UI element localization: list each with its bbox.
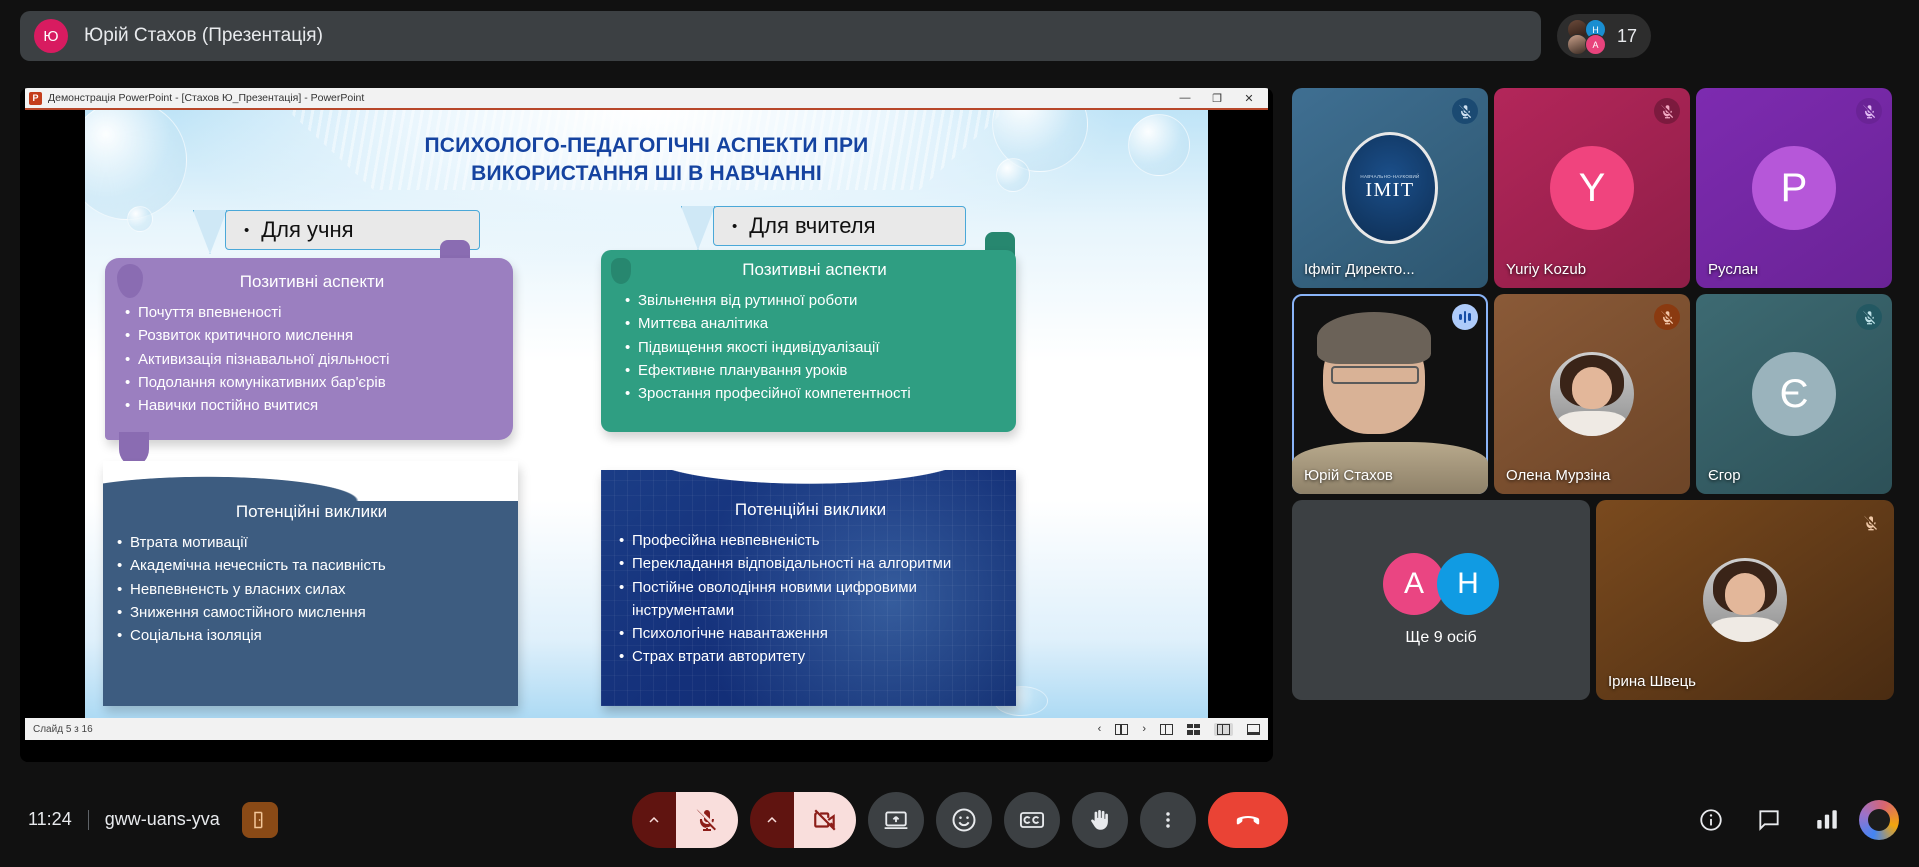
participant-tile-imit[interactable]: НАВЧАЛЬНО-НАУКОВИЙ IMIT Іфміт Директо... — [1292, 88, 1488, 288]
list-item: Ефективне планування уроків — [623, 359, 1006, 382]
divider — [88, 810, 89, 830]
panel-heading: Потенційні виклики — [617, 500, 1004, 520]
powerpoint-window: P Демонстрація PowerPoint - [Стахов Ю_Пр… — [25, 88, 1268, 762]
camera-options-chevron-up-icon[interactable] — [750, 792, 794, 848]
participant-row: НАВЧАЛЬНО-НАУКОВИЙ IMIT Іфміт Директо...… — [1292, 88, 1902, 288]
call-controls — [632, 792, 1288, 848]
mini-avatar-a: A — [1585, 34, 1606, 55]
mic-off-icon — [1452, 98, 1478, 124]
bullet-icon: • — [244, 222, 249, 239]
panel-heading: Потенційні виклики — [115, 502, 508, 522]
participant-grid: НАВЧАЛЬНО-НАУКОВИЙ IMIT Іфміт Директо...… — [1292, 88, 1902, 706]
participant-count-label: 17 — [1617, 26, 1637, 47]
mic-off-icon — [1856, 304, 1882, 330]
mic-off-icon — [1856, 98, 1882, 124]
video-decor — [1317, 312, 1431, 364]
participant-row: A H Ще 9 осіб Ірина Швець — [1292, 500, 1902, 700]
participant-tile-ruslan[interactable]: P Руслан — [1696, 88, 1892, 288]
participant-name: Іфміт Директо... — [1304, 261, 1415, 278]
participant-tile-overflow[interactable]: A H Ще 9 осіб — [1292, 500, 1590, 700]
list-item: Навички постійно вчитися — [123, 394, 501, 417]
exit-door-icon[interactable] — [242, 802, 278, 838]
callout-teacher: • Для вчителя — [713, 206, 966, 246]
participant-name: Єгор — [1708, 467, 1741, 484]
powerpoint-window-title: Демонстрація PowerPoint - [Стахов Ю_През… — [48, 92, 364, 104]
restore-icon[interactable]: ❐ — [1210, 92, 1224, 105]
list-item: Невпевненсть у власних силах — [115, 578, 508, 601]
video-decor — [1331, 366, 1419, 384]
activities-icon[interactable] — [1801, 794, 1853, 846]
overflow-avatar-h: H — [1437, 553, 1499, 615]
meeting-info: 11:24 gww-uans-yva — [0, 802, 278, 838]
microphone-options-chevron-up-icon[interactable] — [632, 792, 676, 848]
list-item: Психологічне навантаження — [617, 622, 1004, 645]
avatar-photo — [1703, 558, 1787, 642]
reading-view-icon[interactable] — [1214, 723, 1233, 736]
participant-tile-yurii-stakhov[interactable]: Юрій Стахов — [1292, 294, 1488, 494]
participant-name: Руслан — [1708, 261, 1758, 278]
powerpoint-app-icon: P — [29, 92, 42, 105]
participant-tile-iryna-shvets[interactable]: Ірина Швець — [1596, 500, 1894, 700]
list-item: Звільнення від рутинної роботи — [623, 289, 1006, 312]
avatar-decor — [1572, 367, 1612, 409]
slide-title-line-2: ВИКОРИСТАННЯ ШІ В НАВЧАННІ — [85, 160, 1208, 188]
slide-area: ПСИХОЛОГО-ПЕДАГОГІЧНІ АСПЕКТИ ПРИ ВИКОРИ… — [25, 110, 1268, 740]
list-item: Академічна нечесність та пасивність — [115, 554, 508, 577]
audio-waveform-icon — [1452, 304, 1478, 330]
mic-off-icon — [1654, 304, 1680, 330]
meeting-details-info-icon[interactable] — [1685, 794, 1737, 846]
callout-tail-left — [193, 210, 227, 254]
microphone-toggle-button[interactable] — [676, 792, 738, 848]
slide-title-line-1: ПСИХОЛОГО-ПЕДАГОГІЧНІ АСПЕКТИ ПРИ — [85, 132, 1208, 160]
camera-toggle-button[interactable] — [794, 792, 856, 848]
avatar-decor — [1725, 573, 1765, 615]
overflow-avatar-cluster: A H — [1383, 553, 1499, 615]
present-screen-button[interactable] — [868, 792, 924, 848]
panel-heading: Позитивні аспекти — [123, 272, 501, 292]
mic-off-icon — [1654, 98, 1680, 124]
participant-row: Юрій Стахов Олена Мурзіна Є Єгор — [1292, 294, 1902, 494]
participant-name: Олена Мурзіна — [1506, 467, 1610, 484]
meeting-title: Юрій Стахов (Презентація) — [84, 25, 323, 47]
powerpoint-title-bar: P Демонстрація PowerPoint - [Стахов Ю_Пр… — [25, 88, 1268, 110]
participant-tile-olena-murzina[interactable]: Олена Мурзіна — [1494, 294, 1690, 494]
bullet-icon: • — [732, 218, 737, 235]
window-controls: — ❐ ✕ — [1178, 92, 1264, 105]
list-item: Почуття впевненості — [123, 301, 501, 324]
panel-list: Професійна невпевненість Перекладання ві… — [617, 529, 1004, 669]
slide-thumbnail-icon[interactable] — [1115, 724, 1128, 735]
avatar-decor — [1558, 411, 1625, 436]
panel-list: Звільнення від рутинної роботи Миттєва а… — [623, 289, 1006, 405]
camera-control-group[interactable] — [750, 792, 856, 848]
imit-logo-icon: НАВЧАЛЬНО-НАУКОВИЙ IMIT — [1342, 132, 1438, 244]
slide-title: ПСИХОЛОГО-ПЕДАГОГІЧНІ АСПЕКТИ ПРИ ВИКОРИ… — [85, 132, 1208, 189]
callout-tail-right — [681, 206, 715, 250]
meeting-code-label: gww-uans-yva — [105, 809, 220, 830]
presenter-avatar: Ю — [34, 19, 68, 53]
panel-decor-knob — [117, 264, 143, 298]
list-item: Перекладання відповідальності на алгорит… — [617, 552, 1004, 575]
panel-wave-decor — [103, 461, 518, 501]
list-item: Страх втрати авторитету — [617, 645, 1004, 668]
decorative-bubble — [127, 206, 153, 232]
list-item: Розвиток критичного мислення — [123, 324, 501, 347]
microphone-control-group[interactable] — [632, 792, 738, 848]
list-item: Подолання комунікативних бар'єрів — [123, 371, 501, 394]
slideshow-view-icon[interactable] — [1247, 724, 1260, 735]
overflow-content: A H Ще 9 осіб — [1383, 553, 1499, 647]
status-bar-controls: ‹ › — [1098, 723, 1260, 736]
panel-student-challenges: Потенційні виклики Втрата мотивації Акад… — [103, 462, 518, 706]
chat-icon[interactable] — [1743, 794, 1795, 846]
slide-sorter-view-icon[interactable] — [1187, 724, 1200, 735]
list-item: Втрата мотивації — [115, 531, 508, 554]
raise-hand-button[interactable] — [1072, 792, 1128, 848]
end-call-button[interactable] — [1208, 792, 1288, 848]
list-item: Підвищення якості індивідуалізації — [623, 336, 1006, 359]
avatar-photo — [1550, 352, 1634, 436]
participant-name: Ірина Швець — [1608, 673, 1696, 690]
presentation-title-pill[interactable]: Ю Юрій Стахов (Презентація) — [20, 11, 1541, 61]
callout-teacher-label: Для вчителя — [749, 213, 875, 239]
clock-label: 11:24 — [28, 809, 72, 830]
captions-cc-icon-button[interactable] — [1004, 792, 1060, 848]
list-item: Зростання професійної компетентності — [623, 382, 1006, 405]
mic-off-icon — [1858, 510, 1884, 536]
next-slide-button[interactable]: › — [1142, 723, 1146, 735]
list-item: Активизація пізнавальної діяльності — [123, 348, 501, 371]
powerpoint-status-bar: Слайд 5 з 16 ‹ › — [25, 718, 1268, 740]
panel-teacher-positive: Позитивні аспекти Звільнення від рутинно… — [601, 250, 1016, 432]
participant-tile-yuriy-kozub[interactable]: Y Yuriy Kozub — [1494, 88, 1690, 288]
gemini-icon[interactable] — [1859, 800, 1899, 840]
avatar-initial: P — [1752, 146, 1836, 230]
imit-logo-text: IMIT — [1365, 179, 1414, 202]
panel-decor-knob — [611, 258, 631, 284]
panel-arc-decor — [601, 470, 1016, 496]
right-controls — [1685, 794, 1899, 846]
normal-view-icon[interactable] — [1160, 724, 1173, 735]
previous-slide-button[interactable]: ‹ — [1098, 723, 1102, 735]
list-item: Соціальна ізоляція — [115, 624, 508, 647]
participant-name: Юрій Стахов — [1304, 467, 1393, 484]
top-bar: Ю Юрій Стахов (Презентація) H A 17 — [0, 0, 1919, 72]
bottom-bar: 11:24 gww-uans-yva — [0, 772, 1919, 867]
participant-name: Yuriy Kozub — [1506, 261, 1586, 278]
list-item: Зниження самостійного мислення — [115, 601, 508, 624]
list-item: Постійне оволодіння новими цифровими інс… — [617, 576, 1004, 623]
panel-student-positive: Позитивні аспекти Почуття впевненості Ро… — [105, 258, 513, 440]
participants-count-button[interactable]: H A 17 — [1557, 14, 1651, 58]
presentation-stage[interactable]: P Демонстрація PowerPoint - [Стахов Ю_Пр… — [20, 88, 1273, 762]
avatar-decor — [1711, 617, 1778, 642]
list-item: Професійна невпевненість — [617, 529, 1004, 552]
slide-canvas: ПСИХОЛОГО-ПЕДАГОГІЧНІ АСПЕКТИ ПРИ ВИКОРИ… — [85, 110, 1208, 740]
avatar-initial: Y — [1550, 146, 1634, 230]
slide-number-label: Слайд 5 з 16 — [33, 724, 93, 735]
panel-heading: Позитивні аспекти — [623, 260, 1006, 280]
callout-student-label: Для учня — [261, 217, 353, 243]
list-item: Миттєва аналітика — [623, 312, 1006, 335]
more-options-button[interactable] — [1140, 792, 1196, 848]
close-icon[interactable]: ✕ — [1242, 92, 1256, 105]
emoji-reactions-button[interactable] — [936, 792, 992, 848]
participant-avatar-cluster: H A — [1567, 19, 1609, 53]
overflow-avatar-a: A — [1383, 553, 1445, 615]
minimize-icon[interactable]: — — [1178, 92, 1192, 104]
panel-teacher-challenges: Потенційні виклики Професійна невпевнені… — [601, 470, 1016, 706]
waveform-bars — [1459, 311, 1471, 324]
panel-list: Втрата мотивації Академічна нечесність т… — [115, 531, 508, 647]
panel-list: Почуття впевненості Розвиток критичного … — [123, 301, 501, 417]
overflow-label: Ще 9 осіб — [1405, 629, 1476, 647]
participant-tile-yehor[interactable]: Є Єгор — [1696, 294, 1892, 494]
avatar-initial: Є — [1752, 352, 1836, 436]
